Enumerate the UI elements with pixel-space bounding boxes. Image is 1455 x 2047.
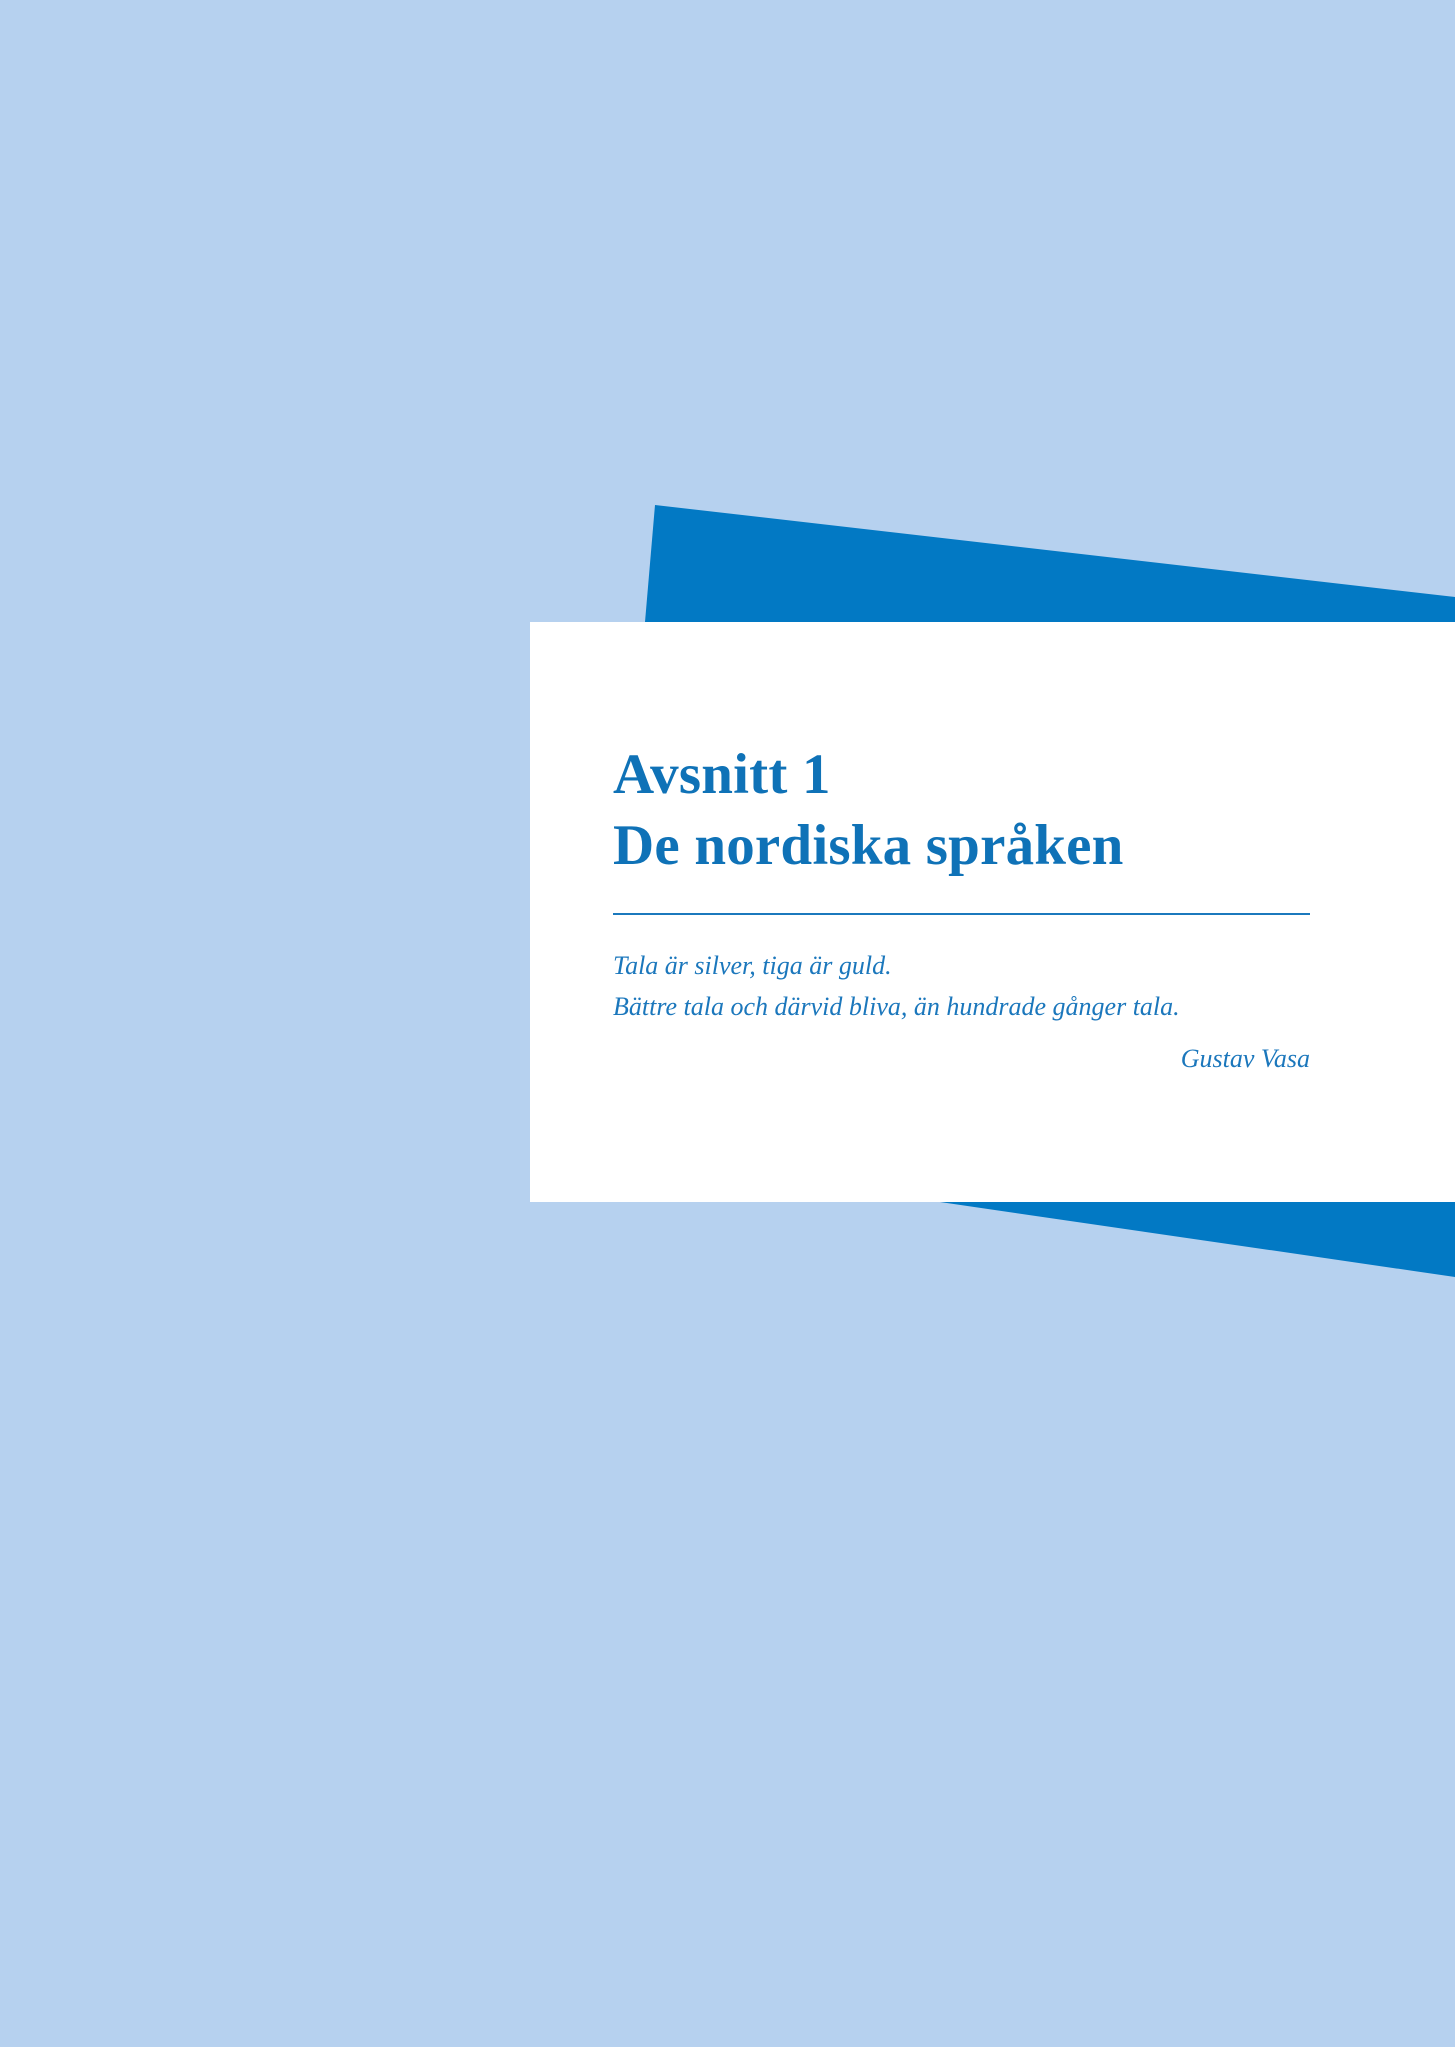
angled-blue-banner-top	[645, 505, 1455, 622]
epigraph-attribution: Gustav Vasa	[613, 1042, 1310, 1076]
chapter-title-content: Avsnitt 1 De nordiska språken Tala är si…	[613, 740, 1310, 1075]
section-label: Avsnitt 1	[613, 740, 1310, 811]
epigraph: Tala är silver, tiga är guld. Bättre tal…	[613, 945, 1310, 1075]
epigraph-line-1: Tala är silver, tiga är guld.	[613, 945, 1310, 986]
title-divider	[613, 913, 1310, 915]
angled-blue-banner-top-right	[1300, 594, 1455, 622]
epigraph-line-2: Bättre tala och därvid bliva, än hundrad…	[613, 986, 1310, 1027]
section-title: De nordiska språken	[613, 811, 1310, 882]
page-title: Avsnitt 1 De nordiska språken	[613, 740, 1310, 881]
chapter-title-card: Avsnitt 1 De nordiska språken Tala är si…	[530, 622, 1455, 1202]
chapter-opener-page: Avsnitt 1 De nordiska språken Tala är si…	[0, 0, 1455, 2047]
angled-blue-banner-bottom	[940, 1202, 1455, 1277]
